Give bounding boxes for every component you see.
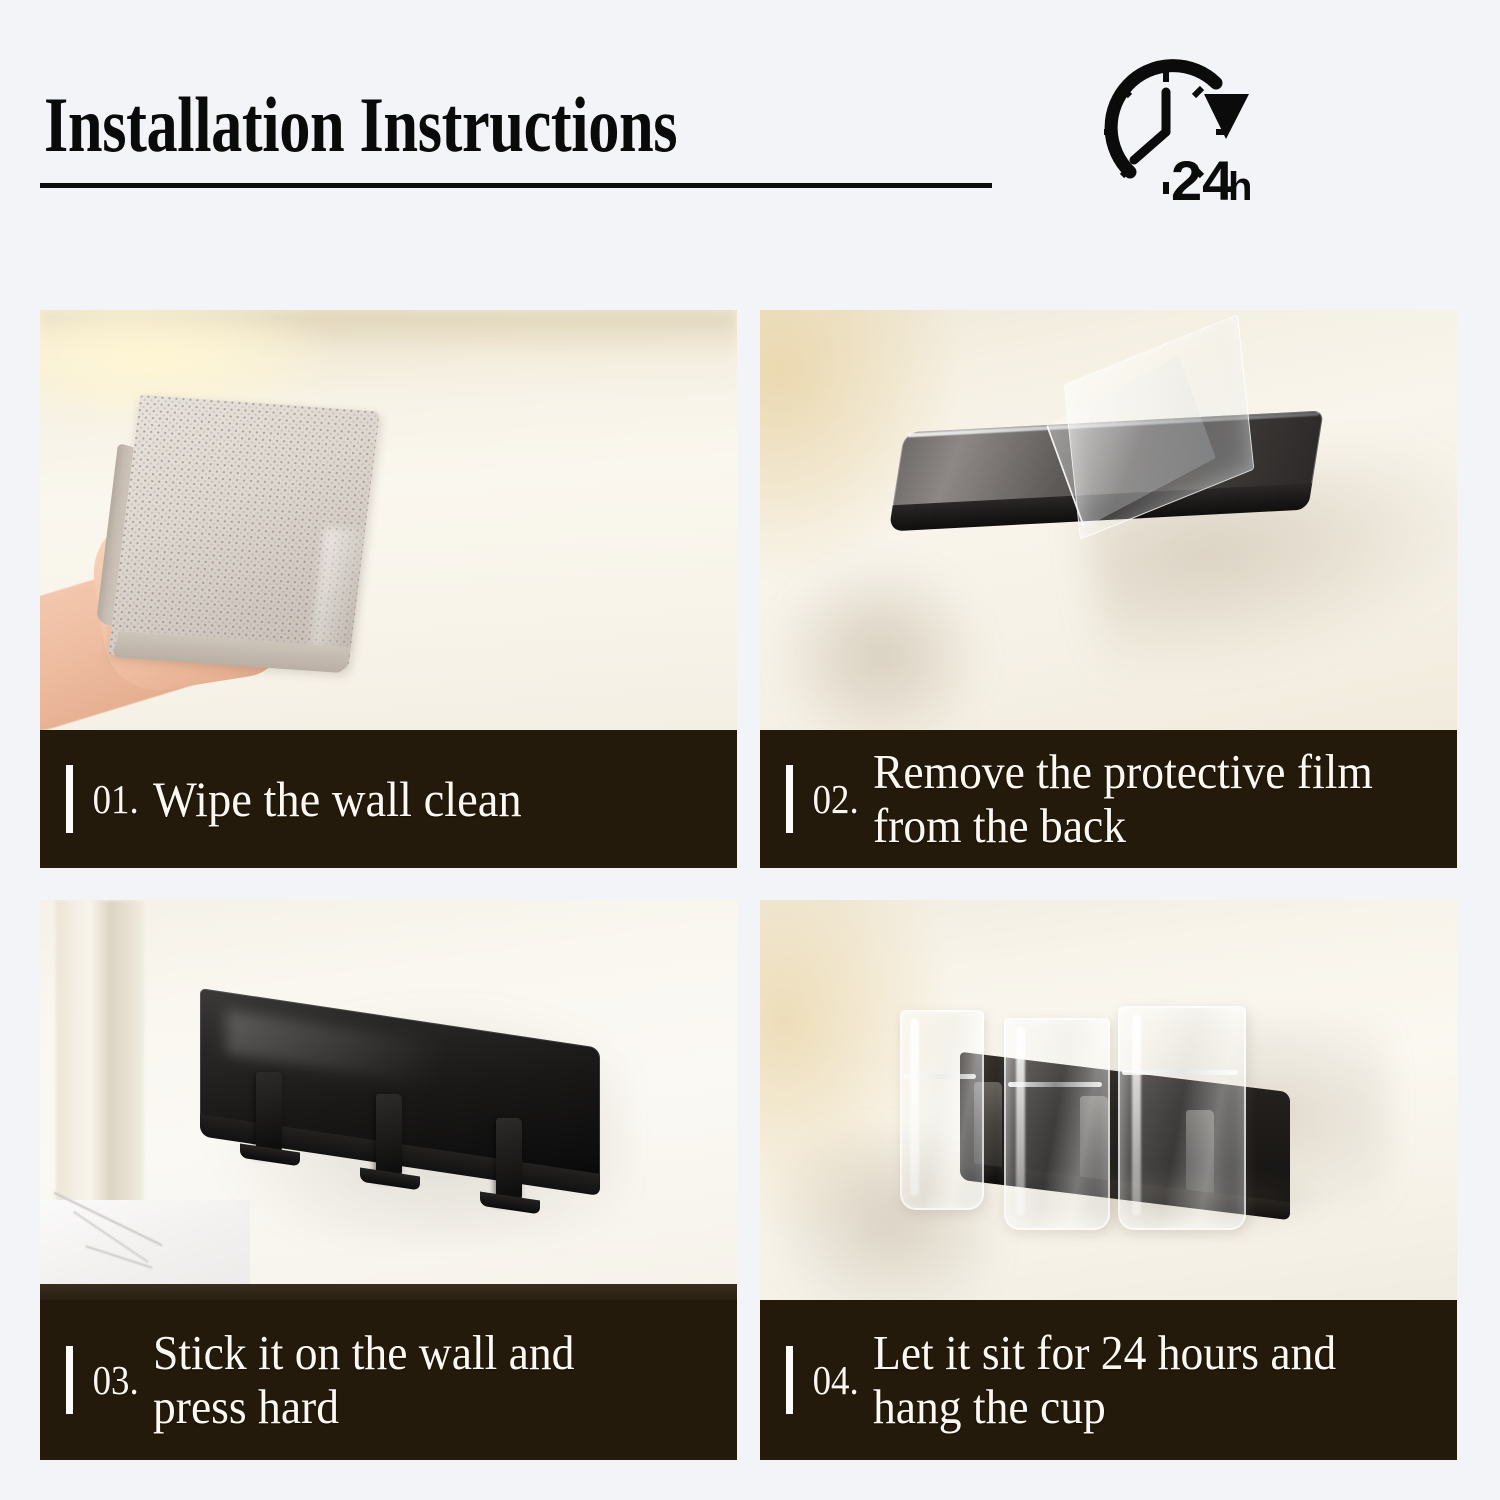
step-03-line-2: press hard [153,1379,339,1434]
step-card-01: 01. Wipe the wall clean [40,310,737,868]
caption-accent-bar [786,1346,793,1414]
step-03-caption: 03. Stick it on the wall and press hard [40,1300,737,1460]
step-02-number: 02. [813,775,859,823]
step-04-caption: 04. Let it sit for 24 hours and hang the… [760,1300,1457,1460]
step-card-04: 04. Let it sit for 24 hours and hang the… [760,900,1457,1460]
glass-cup-1 [900,1010,984,1210]
step-03-line-1: Stick it on the wall and [153,1325,574,1380]
step-01-photo [40,310,737,730]
step-card-03: 03. Stick it on the wall and press hard [40,900,737,1460]
caption-accent-bar [786,765,793,833]
step-02-photo [760,310,1457,730]
glass-cup-2 [1004,1018,1110,1230]
step-04-line-1: Let it sit for 24 hours and [873,1325,1336,1380]
step-02-line-1: Remove the protective film [873,744,1373,799]
step-04-number: 04. [813,1356,859,1404]
step-04-text: Let it sit for 24 hours and hang the cup [873,1326,1336,1434]
step-card-02: 02. Remove the protective film from the … [760,310,1457,868]
step-01-number: 01. [93,775,139,823]
step-02-line-2: from the back [873,798,1126,853]
step-03-text: Stick it on the wall and press hard [153,1326,574,1434]
step-01-text: Wipe the wall clean [153,772,522,827]
steps-grid: 01. Wipe the wall clean 02. Remove the p… [0,0,1500,1500]
step-01-caption: 01. Wipe the wall clean [40,730,737,868]
step-03-number: 03. [93,1356,139,1404]
caption-accent-bar [66,1346,73,1414]
step-03-photo [40,900,737,1300]
glass-cup-3 [1118,1006,1246,1230]
caption-accent-bar [66,765,73,833]
cup-rack [200,1018,600,1208]
step-02-text: Remove the protective film from the back [873,745,1373,853]
step-04-line-2: hang the cup [873,1379,1106,1434]
step-04-photo [760,900,1457,1300]
step-02-caption: 02. Remove the protective film from the … [760,730,1457,868]
